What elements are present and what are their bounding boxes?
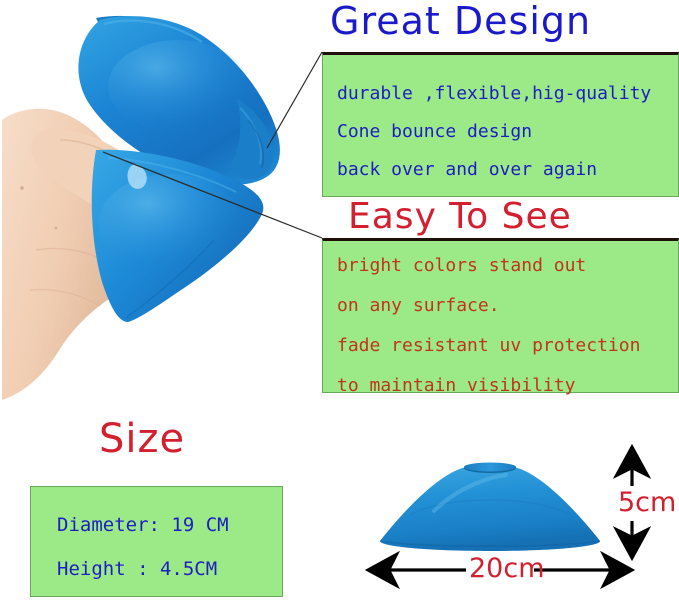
great-design-line: Cone bounce design (337, 123, 532, 141)
heading-easy-to-see: Easy To See (348, 199, 572, 235)
great-design-line: durable ,flexible,hig-quality (337, 85, 651, 103)
width-dimension-label: 20cm (469, 555, 545, 582)
size-info-box: Diameter: 19 CM Height : 4.5CM (30, 486, 283, 597)
product-infographic: Great Design durable ,flexible,hig-quali… (0, 0, 679, 605)
great-design-info-box: durable ,flexible,hig-quality Cone bounc… (322, 52, 679, 197)
easy-to-see-line: bright colors stand out (337, 257, 586, 275)
easy-to-see-line: to maintain visibility (337, 377, 575, 395)
easy-to-see-line: on any surface. (337, 297, 500, 315)
heading-size: Size (99, 419, 185, 459)
cone-product-image (370, 455, 610, 555)
height-dimension-label: 5cm (618, 489, 676, 516)
size-height-line: Height : 4.5CM (57, 560, 217, 579)
easy-to-see-line: fade resistant uv protection (337, 337, 640, 355)
hand-holding-cone-image (0, 0, 330, 410)
easy-to-see-info-box: bright colors stand out on any surface. … (322, 238, 679, 393)
heading-great-design: Great Design (330, 2, 591, 40)
size-diameter-line: Diameter: 19 CM (57, 516, 229, 535)
great-design-line: back over and over again (337, 161, 597, 179)
